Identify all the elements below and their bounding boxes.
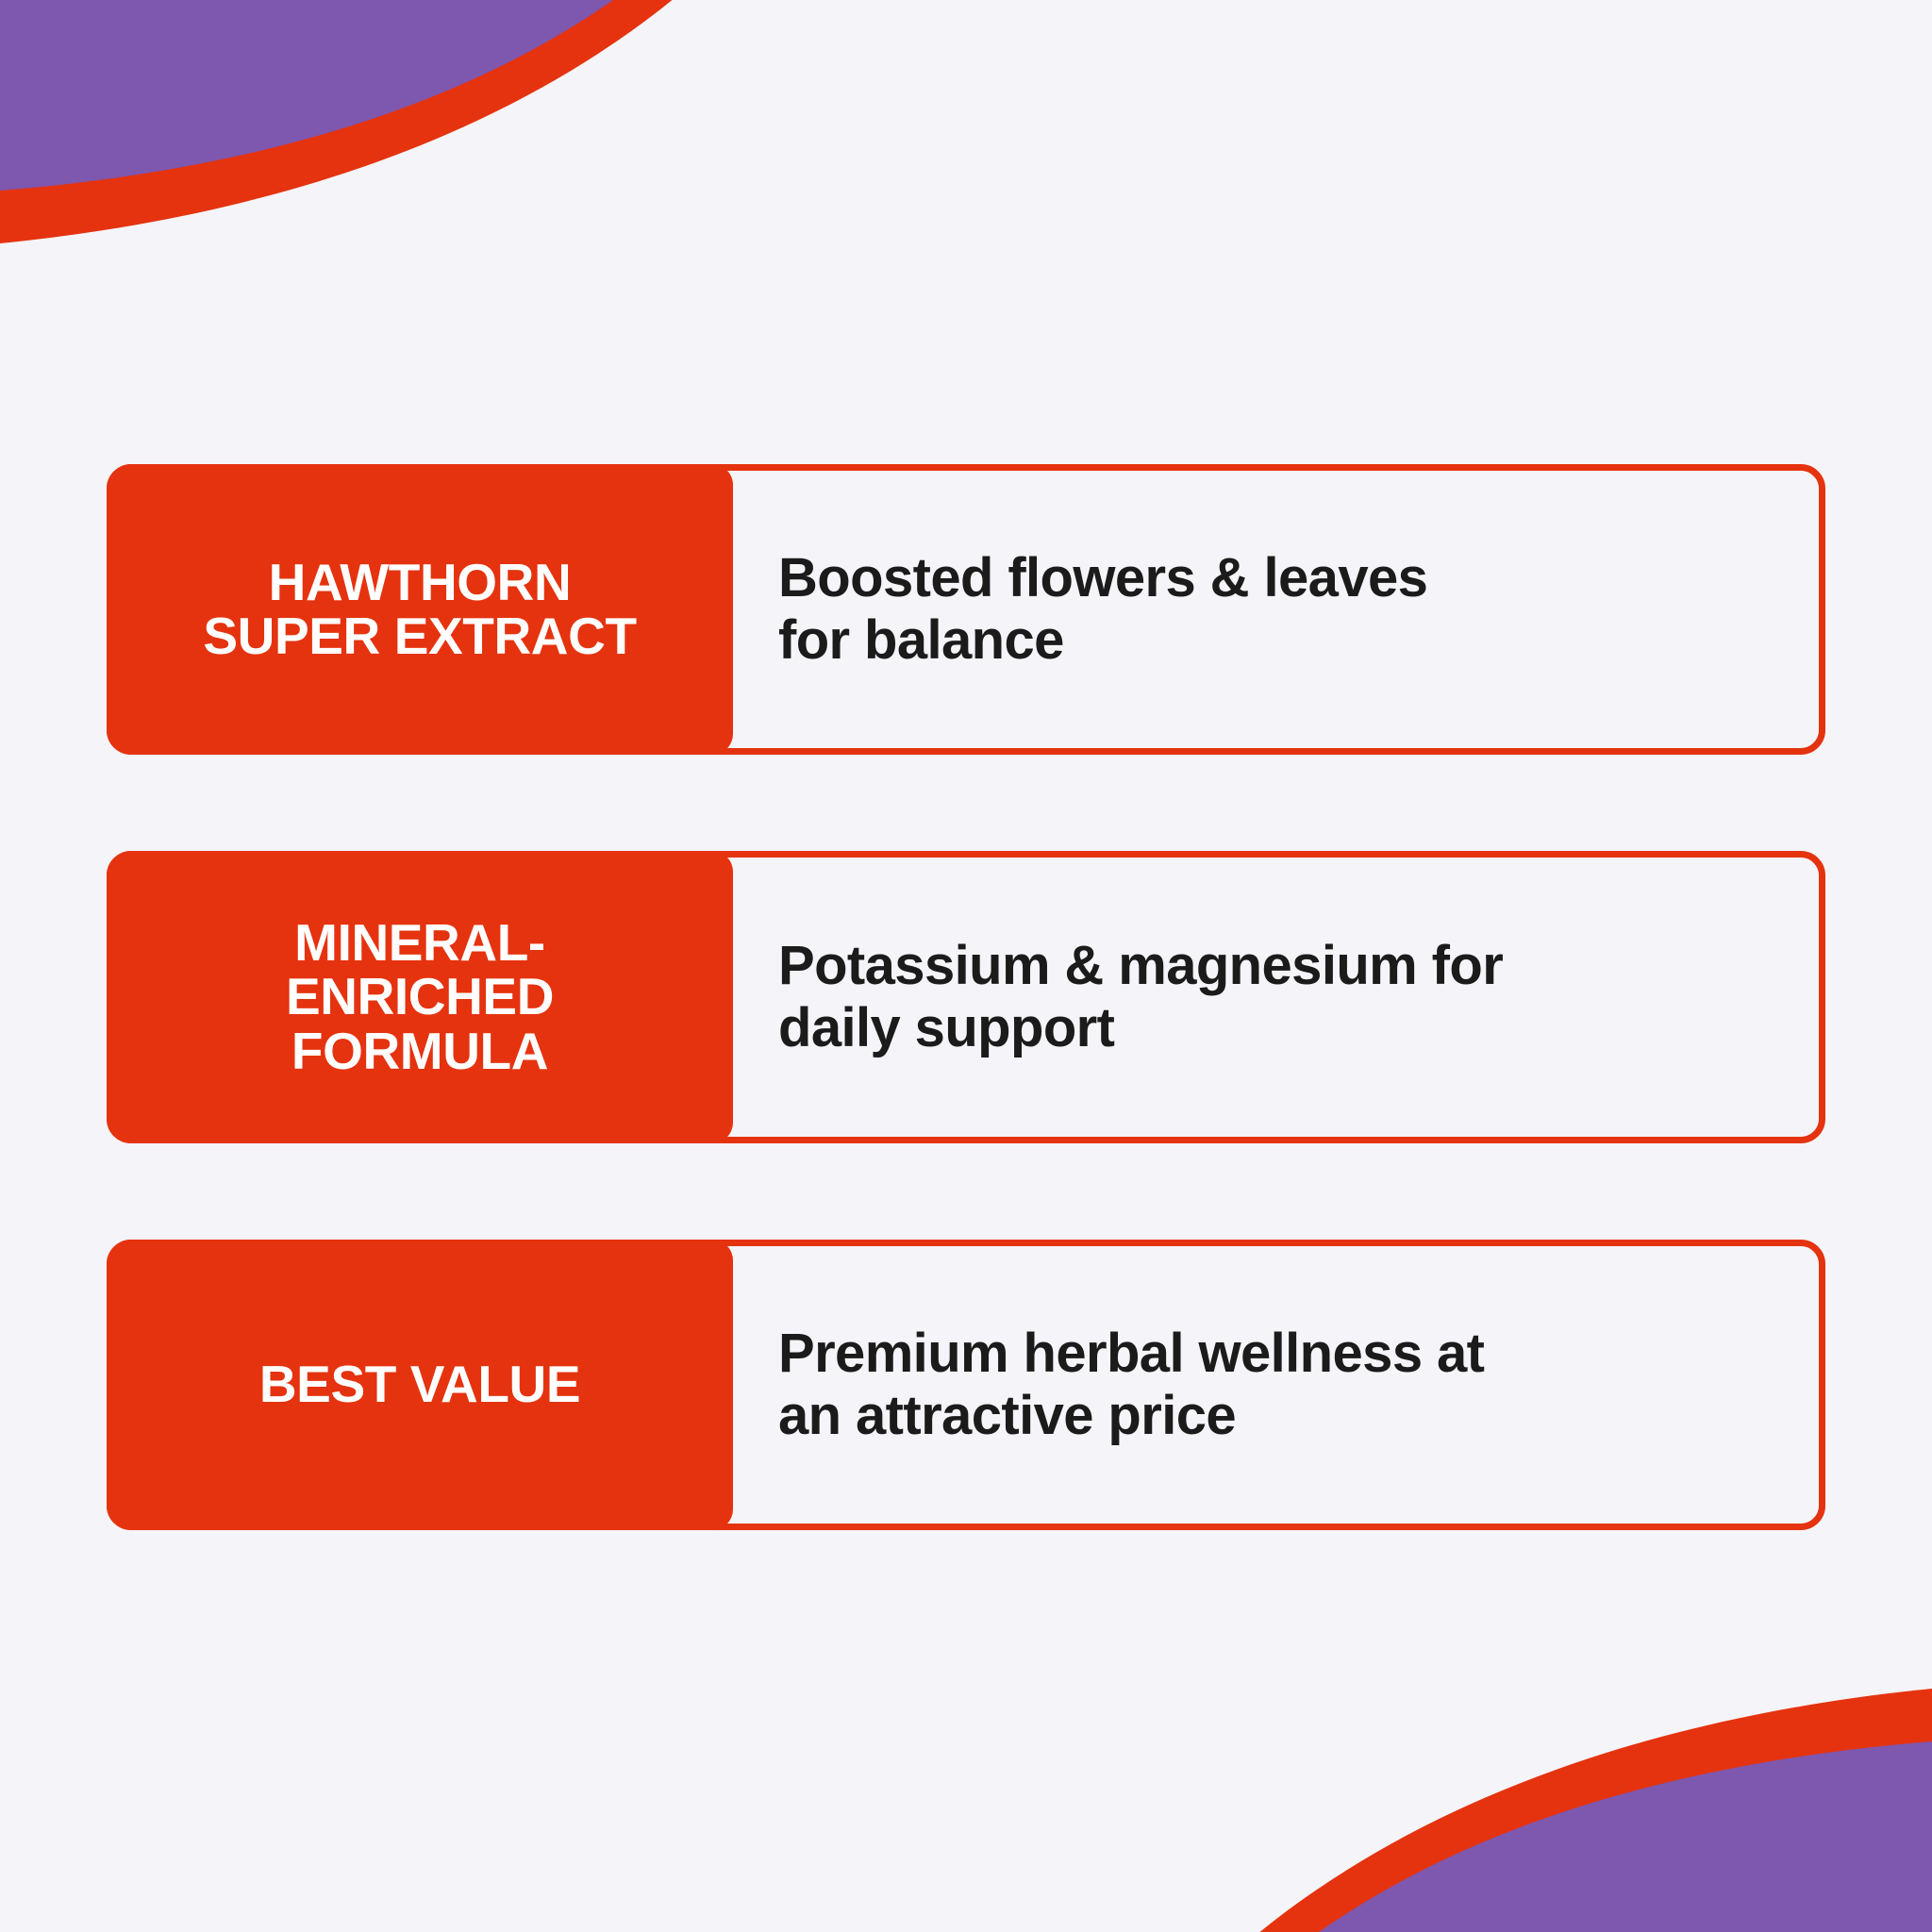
purple-swoosh-bottom-right [107, 1741, 1932, 1932]
infographic-canvas: HAWTHORN SUPER EXTRACT Boosted flowers &… [0, 0, 1932, 1932]
feature-label-badge: HAWTHORN SUPER EXTRACT [107, 464, 733, 755]
feature-card-best-value[interactable]: BEST VALUE Premium herbal wellness at an… [107, 1240, 1825, 1530]
feature-card-list: HAWTHORN SUPER EXTRACT Boosted flowers &… [107, 464, 1825, 1530]
feature-body: Boosted flowers & leaves for balance [733, 471, 1819, 748]
feature-label-text: HAWTHORN SUPER EXTRACT [203, 556, 636, 663]
red-stripe-top [0, 0, 1932, 243]
feature-card-mineral-enriched-formula[interactable]: MINERAL- ENRICHED FORMULA Potassium & ma… [107, 851, 1825, 1143]
feature-label-text: MINERAL- ENRICHED FORMULA [286, 916, 554, 1078]
feature-description-text: Premium herbal wellness at an attractive… [778, 1323, 1484, 1447]
feature-body: Potassium & magnesium for daily support [733, 858, 1819, 1137]
red-stripe-bottom [0, 1689, 1932, 1932]
feature-label-badge: MINERAL- ENRICHED FORMULA [107, 851, 733, 1143]
feature-label-badge: BEST VALUE [107, 1240, 733, 1530]
feature-description-text: Boosted flowers & leaves for balance [778, 547, 1427, 672]
feature-label-text: BEST VALUE [259, 1357, 580, 1411]
feature-description-text: Potassium & magnesium for daily support [778, 935, 1503, 1059]
purple-swoosh-top-left [0, 0, 1825, 191]
feature-body: Premium herbal wellness at an attractive… [733, 1246, 1819, 1524]
feature-card-hawthorn-super-extract[interactable]: HAWTHORN SUPER EXTRACT Boosted flowers &… [107, 464, 1825, 755]
